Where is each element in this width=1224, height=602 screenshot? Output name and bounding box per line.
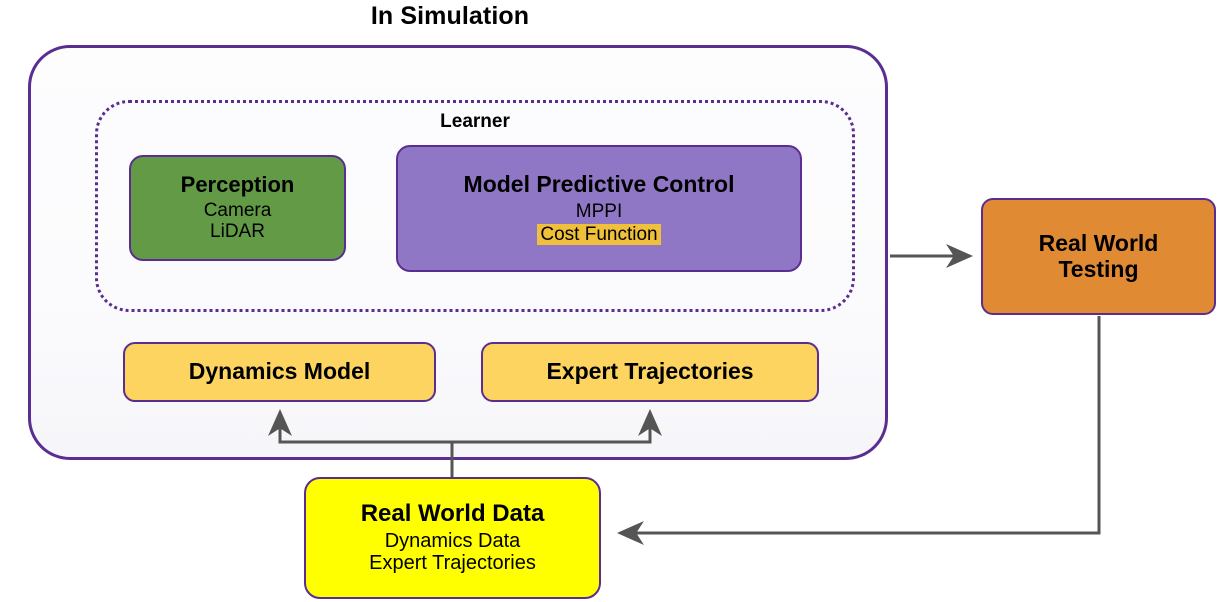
node-model-predictive-control[interactable]: Model Predictive Control MPPI Cost Funct… — [396, 145, 802, 272]
real-world-testing-line1: Real World — [1039, 231, 1159, 257]
real-world-data-line-dynamics: Dynamics Data — [385, 530, 521, 552]
diagram-canvas: In Simulation Learner Perception Camera … — [0, 0, 1224, 602]
node-perception[interactable]: Perception Camera LiDAR — [129, 155, 346, 261]
dynamics-model-title: Dynamics Model — [189, 359, 371, 385]
learner-label: Learner — [375, 111, 575, 133]
mpc-line-mppi: MPPI — [576, 201, 622, 222]
node-expert-trajectories[interactable]: Expert Trajectories — [481, 342, 819, 402]
node-real-world-testing[interactable]: Real World Testing — [981, 198, 1216, 315]
real-world-testing-line2: Testing — [1058, 257, 1138, 283]
perception-line-lidar: LiDAR — [210, 221, 265, 242]
perception-line-camera: Camera — [204, 200, 272, 221]
node-dynamics-model[interactable]: Dynamics Model — [123, 342, 436, 402]
expert-trajectories-title: Expert Trajectories — [546, 359, 753, 385]
perception-title: Perception — [181, 173, 295, 198]
node-real-world-data[interactable]: Real World Data Dynamics Data Expert Tra… — [304, 477, 601, 599]
mpc-title: Model Predictive Control — [464, 172, 735, 198]
mpc-line-cost-function: Cost Function — [537, 224, 660, 245]
diagram-title: In Simulation — [248, 2, 652, 31]
real-world-data-title: Real World Data — [361, 501, 545, 528]
real-world-data-line-expert: Expert Trajectories — [369, 552, 536, 574]
